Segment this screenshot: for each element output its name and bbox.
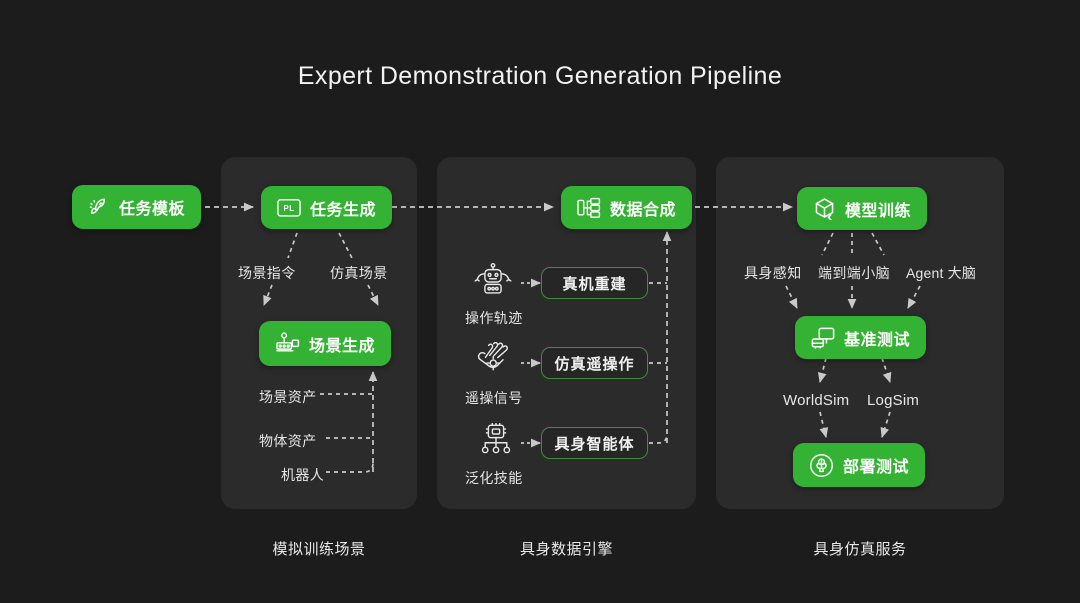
data-sync-icon <box>577 197 601 219</box>
label-teleop-signal: 遥操信号 <box>465 388 523 408</box>
cube-arrow-icon <box>813 197 836 220</box>
label-simulation-scene: 仿真场景 <box>330 263 388 283</box>
node-model-training[interactable]: 模型训练 <box>797 187 927 230</box>
robot-icon <box>472 262 514 302</box>
node-deployment-test[interactable]: 部署测试 <box>793 443 925 487</box>
node-label: 部署测试 <box>843 453 909 477</box>
label-scene-instruction: 场景指令 <box>238 263 296 283</box>
label-worldsim: WorldSim <box>783 392 849 409</box>
svg-text:PL: PL <box>284 203 295 212</box>
pl-frame-icon: PL <box>277 198 301 218</box>
node-data-synthesis[interactable]: 数据合成 <box>561 186 692 229</box>
label-agent-brain: Agent 大脑 <box>906 263 976 283</box>
brain-circle-icon <box>809 453 834 478</box>
page-title: Expert Demonstration Generation Pipeline <box>0 62 1080 91</box>
caption-panel-2: 具身数据引擎 <box>437 538 696 559</box>
node-benchmark-test[interactable]: 基准测试 <box>795 316 926 359</box>
rocket-icon <box>88 196 110 218</box>
monitor-icon <box>811 327 835 349</box>
glove-icon <box>474 342 514 380</box>
label-operation-trajectory: 操作轨迹 <box>465 308 523 328</box>
chip-icon <box>477 423 515 460</box>
box-embodied-agent[interactable]: 具身智能体 <box>541 427 648 459</box>
node-label: 基准测试 <box>844 326 910 350</box>
pipeline-diagram: Expert Demonstration Generation Pipeline <box>0 0 1080 603</box>
label-generalization-skill: 泛化技能 <box>465 468 523 488</box>
box-simulated-teleoperation[interactable]: 仿真遥操作 <box>541 347 648 379</box>
node-label: 模型训练 <box>845 197 911 221</box>
label-robot: 机器人 <box>281 465 324 485</box>
scene-robot-icon <box>275 332 300 355</box>
label-scene-assets: 场景资产 <box>259 387 317 407</box>
node-task-template[interactable]: 任务模板 <box>72 185 201 229</box>
node-scene-generation[interactable]: 场景生成 <box>259 321 391 366</box>
label-object-assets: 物体资产 <box>259 431 317 451</box>
caption-panel-1: 模拟训练场景 <box>221 538 417 559</box>
caption-panel-3: 具身仿真服务 <box>716 538 1004 559</box>
node-label: 场景生成 <box>309 332 375 356</box>
node-task-generation[interactable]: PL 任务生成 <box>261 186 392 229</box>
node-label: 任务生成 <box>310 196 376 220</box>
label-logsim: LogSim <box>867 392 919 409</box>
node-label: 数据合成 <box>610 196 676 220</box>
box-real-machine-reconstruction[interactable]: 真机重建 <box>541 267 648 299</box>
label-end-to-end-cerebellum: 端到端小脑 <box>818 263 890 283</box>
node-label: 任务模板 <box>119 195 185 219</box>
label-embodied-perception: 具身感知 <box>744 263 802 283</box>
